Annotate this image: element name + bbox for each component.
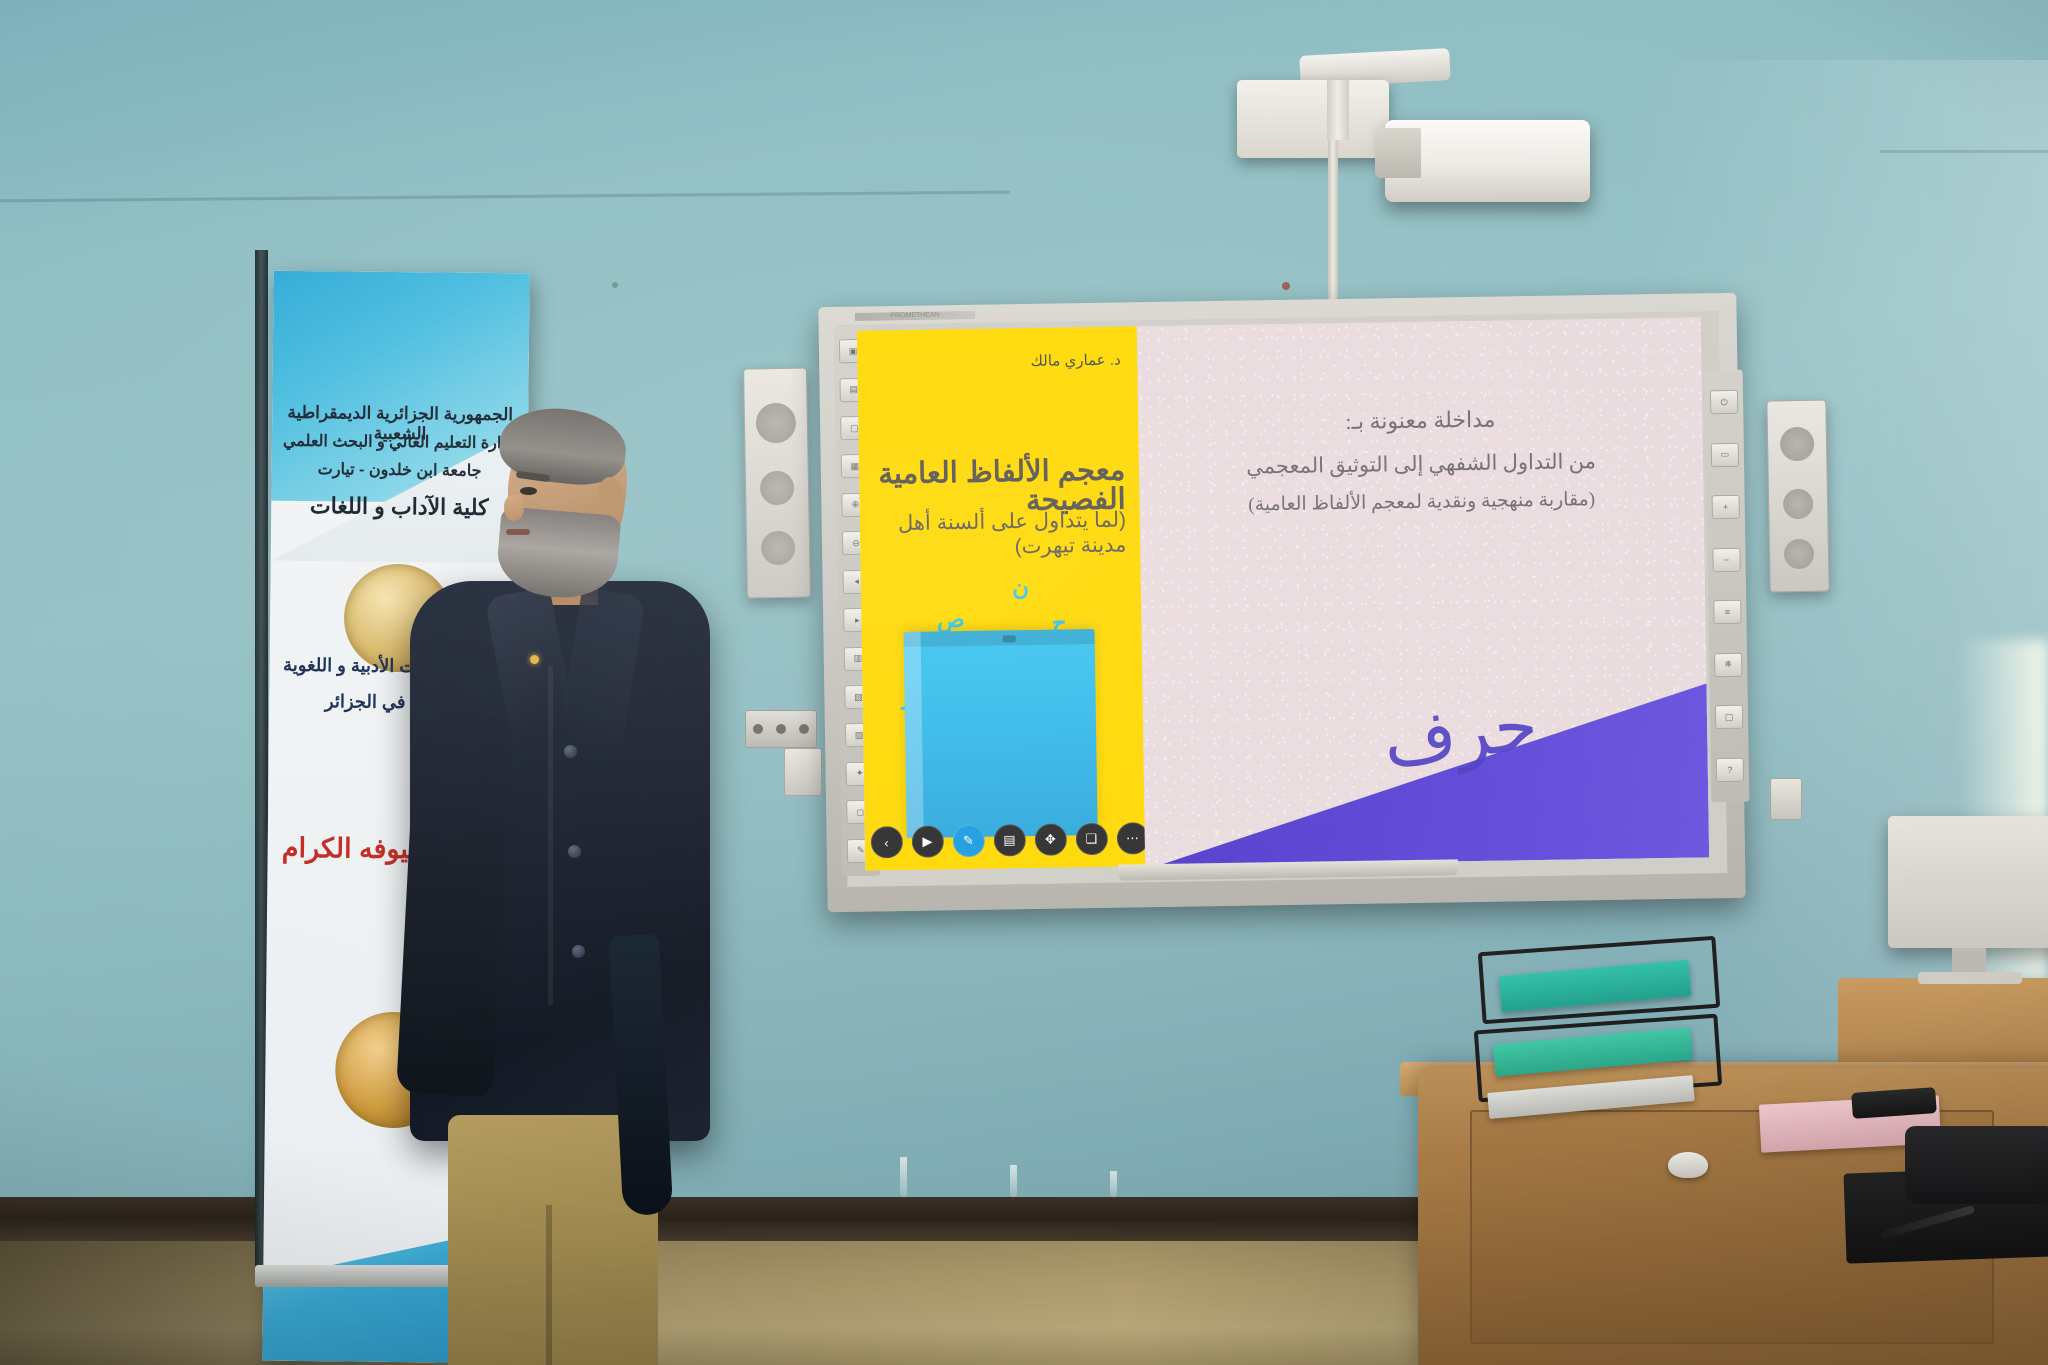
speaker-left-driver-1 (756, 403, 797, 444)
slide-subtitle: (لما يتداول على ألسنة أهل مدينة تيهرت) (868, 507, 1127, 561)
speaker-right-driver-3 (1784, 539, 1815, 570)
speaker-right (1766, 399, 1829, 592)
projector-drop-pole (1327, 80, 1349, 140)
projector-mount-plate (1237, 80, 1389, 158)
presenter-button[interactable]: ❏ (1075, 823, 1107, 855)
presenter (420, 415, 750, 1365)
slide-right-panel: مداخلة معنونة بـ: من التداول الشفهي إلى … (1137, 317, 1709, 866)
wb-key-power[interactable]: ⏻ (1710, 390, 1738, 414)
wall-power-socket-left[interactable] (784, 748, 822, 796)
slide-author: د. عماري مالك (1030, 350, 1120, 369)
play-button[interactable]: ▶ (911, 825, 943, 857)
book-spine (904, 632, 924, 837)
wb-key-input[interactable]: ▭ (1711, 443, 1739, 467)
presentation-slide: د. عماري مالك معجم الألفاظ العامية الفصي… (857, 317, 1709, 870)
more-options-button[interactable]: ⋯ (1116, 822, 1145, 854)
speaker-left (743, 367, 811, 598)
presenter-nose (504, 495, 524, 521)
wb-key-volume-down[interactable]: − (1712, 548, 1740, 572)
pointer-button[interactable]: ✥ (1034, 824, 1066, 856)
wb-key-help[interactable]: ? (1716, 758, 1744, 782)
wb-key-menu[interactable]: ≡ (1713, 600, 1741, 624)
laptop-bag (1905, 1126, 2048, 1204)
speaker-left-driver-3 (761, 531, 796, 566)
whiteboard-projection-screen[interactable]: د. عماري مالك معجم الألفاظ العامية الفصي… (857, 317, 1709, 870)
speaker-right-driver-2 (1783, 489, 1814, 520)
presenter-leg-split (546, 1205, 552, 1365)
coat-button-1 (564, 745, 577, 758)
amp-knob-1[interactable] (753, 724, 763, 734)
wb-key-blank[interactable]: ▢ (1715, 705, 1743, 729)
whiteboard-right-keypad[interactable]: ⏻ ▭ + − ≡ ❄ ▢ ? (1705, 370, 1750, 803)
presenter-lapel-seam (548, 665, 553, 1005)
coat-button-2 (568, 845, 581, 858)
wall-audio-amplifier[interactable] (745, 710, 817, 748)
coat-button-3 (572, 945, 585, 958)
wall-mark-1 (1282, 282, 1290, 290)
notes-button[interactable]: ▤ (993, 824, 1025, 856)
amp-knob-3[interactable] (799, 724, 809, 734)
monitor-stand-base (1918, 972, 2022, 984)
book-cover-graphic (904, 629, 1098, 837)
presenter-eye (520, 487, 537, 495)
slide-yellow-panel: د. عماري مالك معجم الألفاظ العامية الفصي… (857, 326, 1146, 870)
letter-sad: ص (937, 606, 965, 633)
projector-lens (1375, 128, 1421, 178)
presenter-sleeve (396, 713, 512, 1098)
slide-right-text-block: مداخلة معنونة بـ: من التداول الشفهي إلى … (1178, 404, 1664, 518)
wall-mark-3 (612, 282, 618, 288)
wall-seam-line-right (1880, 150, 2048, 153)
wall-drip-2 (1010, 1165, 1017, 1197)
paper-tray-rack (1472, 944, 1772, 1144)
computer-mouse[interactable] (1668, 1152, 1708, 1178)
presenter-mouth (506, 529, 530, 535)
speaker-left-driver-2 (760, 471, 795, 506)
book-notch (1003, 635, 1016, 642)
presenter-ear (598, 477, 622, 509)
lapel-pin (530, 655, 539, 664)
letter-noon: ن (1012, 574, 1029, 601)
wall-drip-3 (1110, 1171, 1117, 1197)
wall-drip-1 (900, 1157, 907, 1197)
amp-knob-2[interactable] (776, 724, 786, 734)
wall-power-socket-right[interactable] (1770, 778, 1802, 820)
speaker-right-driver-1 (1780, 427, 1815, 462)
classroom-scene: vivitek PROMETHEAN ▣ ▤ ▢ ▦ ⊕ ⊖ ◂ ▸ ▥ ▧ ▨… (0, 0, 2048, 1365)
slide-playback-toolbar[interactable]: ‹ ▶ ✎ ▤ ✥ ❏ ⋯ ⊞ (870, 822, 1145, 859)
slide-right-line-2: من التداول الشفهي إلى التوثيق المعجمي (1179, 448, 1664, 481)
desk-monitor: مداخلة معنونة بـ: من التداول الشفهي إلى … (1888, 816, 2048, 948)
wb-key-volume-up[interactable]: + (1712, 495, 1740, 519)
wb-key-freeze[interactable]: ❄ (1714, 653, 1742, 677)
book-top-edge (904, 629, 1095, 646)
pen-tool-button[interactable]: ✎ (952, 825, 984, 857)
back-button[interactable]: ‹ (870, 826, 902, 858)
